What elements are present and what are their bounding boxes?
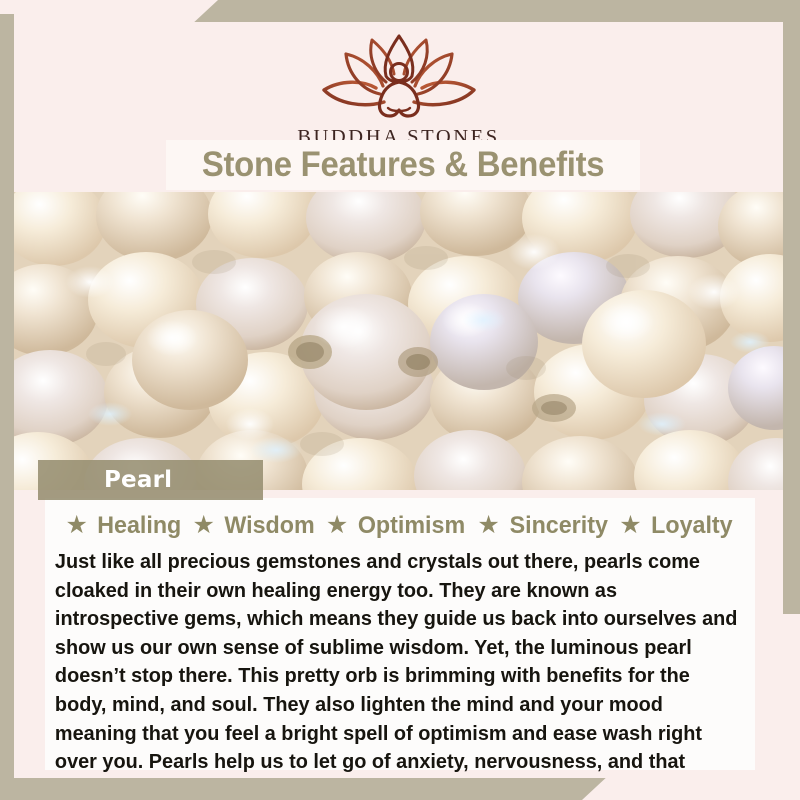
lotus-meditation-icon: [310, 28, 488, 124]
benefit-item-wisdom: ★ Wisdom: [192, 512, 316, 540]
content-card: BUDDHA STONES Stone Features & Benefits: [14, 22, 783, 778]
star-icon: ★: [477, 513, 499, 538]
stone-description: Just like all precious gemstones and cry…: [53, 548, 746, 778]
right-accent-edge: [783, 22, 800, 614]
page-title: Stone Features & Benefits: [202, 145, 604, 185]
benefit-label: Loyalty: [651, 512, 732, 540]
star-icon: ★: [326, 513, 348, 538]
benefit-item-healing: ★ Healing: [66, 512, 184, 540]
star-icon: ★: [66, 513, 88, 538]
pearl-photo-illustration: [14, 192, 783, 490]
star-icon: ★: [192, 513, 214, 538]
benefits-list: ★ Healing ★ Wisdom ★ Optimism ★ Sincerit…: [53, 506, 747, 546]
stone-name-bar: Pearl: [38, 460, 263, 500]
benefit-label: Healing: [97, 512, 181, 540]
benefit-label: Optimism: [358, 512, 465, 540]
benefit-label: Wisdom: [224, 512, 314, 540]
description-panel: ★ Healing ★ Wisdom ★ Optimism ★ Sincerit…: [14, 490, 783, 778]
benefit-item-optimism: ★ Optimism: [326, 512, 468, 540]
benefit-label: Sincerity: [509, 512, 607, 540]
stone-photo: [14, 192, 783, 490]
page-title-box: Stone Features & Benefits: [166, 140, 640, 190]
left-accent-edge: [0, 14, 14, 786]
benefit-item-sincerity: ★ Sincerity: [477, 512, 610, 540]
description-panel-inner: ★ Healing ★ Wisdom ★ Optimism ★ Sincerit…: [45, 498, 755, 770]
infographic-page: BUDDHA STONES Stone Features & Benefits: [0, 0, 800, 800]
star-icon: ★: [619, 513, 641, 538]
benefit-item-loyalty: ★ Loyalty: [619, 512, 734, 540]
stone-name: Pearl: [104, 467, 172, 493]
